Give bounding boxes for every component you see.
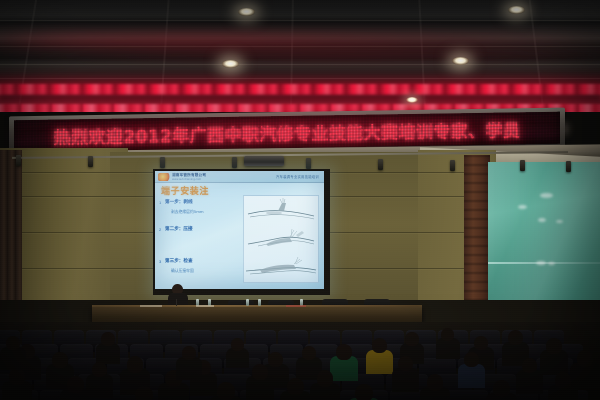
audience-head [405, 332, 419, 346]
slide-bullet-sub: 剥去绝缘层约5mm [171, 209, 204, 215]
audience-head [474, 336, 488, 350]
audience-torso [86, 374, 113, 398]
slide-bullet-sub: 确认压接牢固 [171, 268, 194, 274]
audience-head [127, 356, 144, 373]
audience-head [6, 336, 20, 350]
audience-head [268, 352, 283, 367]
audience-torso [330, 356, 358, 381]
audience-head [52, 352, 68, 368]
audience-torso [366, 350, 393, 374]
audience-torso [96, 343, 120, 365]
ceiling-spotlight [508, 6, 525, 14]
water-bottle [246, 299, 249, 306]
slide-figure-box [243, 195, 319, 283]
audience-head [182, 346, 196, 360]
track-spotlight [232, 157, 237, 168]
audience-head [577, 350, 594, 367]
slide-bullet-num: 3 [159, 259, 161, 264]
audience-head [522, 358, 537, 373]
audience-head [252, 364, 268, 380]
photo-scene: 热烈欢迎2012年广西中职汽修专业技能大赛培训专家、学员 湖南车管所有限公司 w… [0, 0, 600, 400]
track-spotlight [88, 156, 93, 167]
slide-bullet-main: 第二步：压接 [165, 226, 193, 232]
weld-diagram-2 [244, 226, 318, 252]
audience-head [9, 368, 26, 385]
audience-torso [458, 364, 485, 388]
audience-head [67, 376, 84, 393]
slide-bullet-num: 2 [159, 227, 161, 232]
audience-torso [516, 370, 543, 394]
audience-head [302, 346, 316, 360]
ceiling [0, 0, 600, 112]
track-spotlight [378, 159, 383, 170]
projection-screen-frame: 湖南车管所有限公司 www.autotraining.com 汽车装调专业实用技… [153, 169, 330, 295]
audience-head [336, 344, 352, 360]
banner-text: 热烈欢迎2012年广西中职汽修专业技能大赛培训专家、学员 [54, 116, 521, 148]
slide-header-subtitle: 汽车装调专业实用技能培训 [276, 174, 319, 179]
audience-head [92, 362, 107, 377]
led-ceiling-strip-upper [0, 84, 600, 95]
audience-head [231, 338, 244, 351]
slide-title: 端子安装注 [161, 184, 209, 197]
audience-head [464, 352, 479, 367]
audience-head [493, 380, 510, 397]
water-bottle [258, 299, 261, 306]
audience-head [135, 386, 153, 400]
track-spotlight [520, 160, 525, 171]
audience-torso [226, 348, 249, 368]
audience-head [287, 378, 304, 395]
audience-head [217, 382, 235, 400]
audience-head [441, 328, 454, 341]
audience-head [546, 338, 562, 354]
audience-head [317, 370, 334, 387]
audience-torso [392, 368, 419, 392]
ceiling-spotlight [222, 60, 239, 68]
ceiling-projector [244, 156, 284, 166]
projection-screen: 湖南车管所有限公司 www.autotraining.com 汽车装调专业实用技… [155, 171, 324, 289]
audience-head [427, 374, 444, 391]
track-spotlight [306, 158, 311, 169]
audience-head [508, 330, 523, 345]
slide-bullet-main: 第三步：检查 [165, 258, 193, 264]
track-spotlight [566, 161, 571, 172]
audience-head [555, 372, 572, 389]
slide-company-url: www.autotraining.com [172, 178, 201, 181]
track-spotlight [16, 155, 21, 166]
audience-torso [176, 357, 202, 380]
audience-torso [436, 338, 460, 359]
slide-bullet-num: 1 [159, 200, 161, 205]
microphone [176, 299, 177, 306]
audience-torso [246, 376, 274, 400]
audience-torso [0, 347, 26, 370]
track-spotlight [450, 160, 455, 171]
ceiling-red-glow [0, 32, 600, 48]
ceiling-spotlight [238, 8, 255, 16]
track-spotlight [160, 157, 165, 168]
weld-diagram-3 [244, 254, 318, 280]
ceiling-spotlight [406, 97, 418, 103]
company-logo-icon [158, 173, 170, 181]
audience-head [398, 356, 413, 371]
weld-diagram-1 [244, 198, 318, 224]
slide-bullet-main: 第一步：剥线 [165, 199, 193, 205]
ceiling-spotlight [452, 57, 469, 65]
audience-head [101, 332, 115, 346]
audience-head [355, 384, 373, 400]
audience-head [372, 338, 387, 353]
